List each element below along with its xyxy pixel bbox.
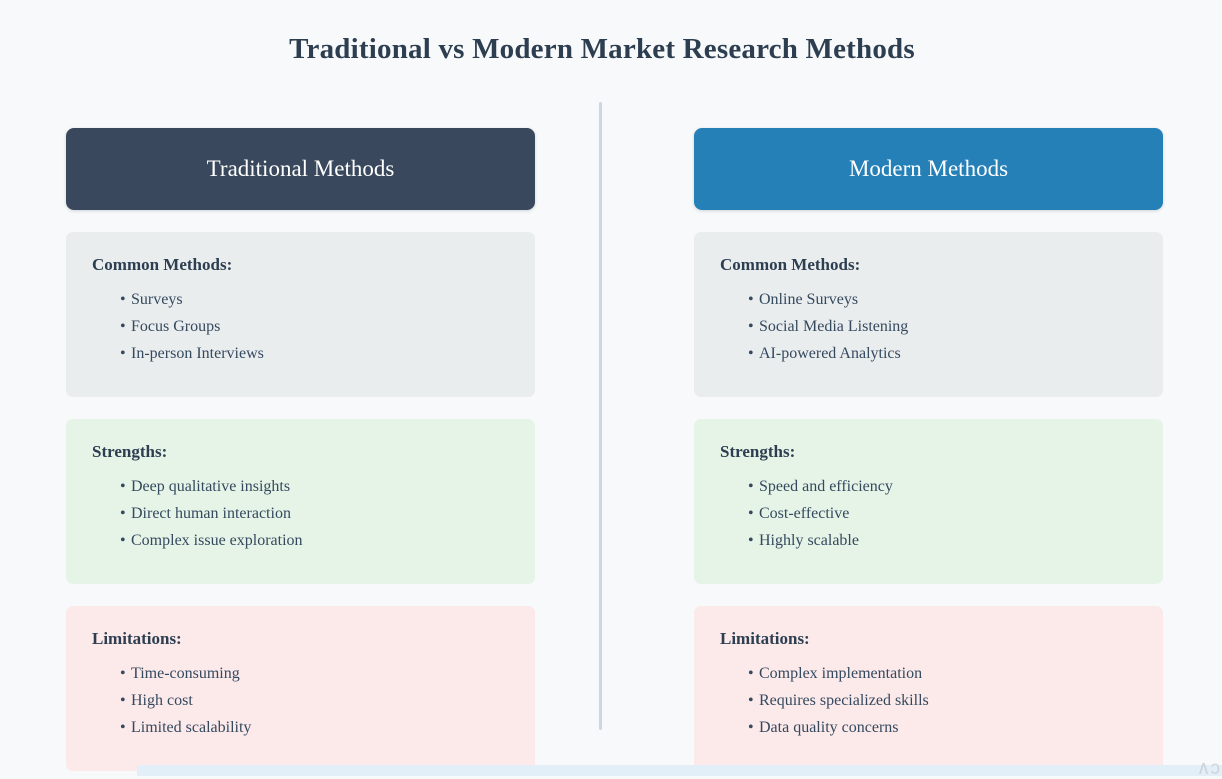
list-item: •Requires specialized skills bbox=[748, 687, 1163, 714]
corner-watermark: ∧ɔ bbox=[1197, 759, 1220, 778]
bullet-icon: • bbox=[748, 313, 759, 340]
list-item-label: AI-powered Analytics bbox=[759, 345, 901, 362]
bullet-icon: • bbox=[120, 473, 131, 500]
panel-heading: Limitations: bbox=[720, 628, 1163, 650]
panel-list: •Online Surveys •Social Media Listening … bbox=[694, 286, 1163, 367]
list-item-label: Limited scalability bbox=[131, 719, 251, 736]
list-item: •Limited scalability bbox=[120, 714, 535, 741]
list-item: •High cost bbox=[120, 687, 535, 714]
list-item-label: Data quality concerns bbox=[759, 719, 899, 736]
bullet-icon: • bbox=[748, 687, 759, 714]
bullet-icon: • bbox=[120, 286, 131, 313]
bullet-icon: • bbox=[748, 527, 759, 554]
panel-heading: Limitations: bbox=[92, 628, 535, 650]
list-item: •Surveys bbox=[120, 286, 535, 313]
list-item-label: High cost bbox=[131, 692, 193, 709]
comparison-columns: Traditional Methods Common Methods: •Sur… bbox=[0, 128, 1222, 771]
list-item-label: In-person Interviews bbox=[131, 345, 264, 362]
list-item-label: Highly scalable bbox=[759, 532, 859, 549]
panel-list: •Time-consuming •High cost •Limited scal… bbox=[66, 660, 535, 741]
bullet-icon: • bbox=[748, 473, 759, 500]
panel-heading: Strengths: bbox=[720, 441, 1163, 463]
page-title: Traditional vs Modern Market Research Me… bbox=[0, 33, 1204, 66]
panel-modern-limitations: Limitations: •Complex implementation •Re… bbox=[694, 606, 1163, 771]
list-item-label: Direct human interaction bbox=[131, 505, 291, 522]
panel-list: •Deep qualitative insights •Direct human… bbox=[66, 473, 535, 554]
list-item-label: Social Media Listening bbox=[759, 318, 908, 335]
bullet-icon: • bbox=[120, 340, 131, 367]
list-item: •Social Media Listening bbox=[748, 313, 1163, 340]
list-item: •Time-consuming bbox=[120, 660, 535, 687]
bullet-icon: • bbox=[748, 714, 759, 741]
column-modern: Modern Methods Common Methods: •Online S… bbox=[694, 128, 1163, 771]
list-item-label: Requires specialized skills bbox=[759, 692, 929, 709]
bullet-icon: • bbox=[748, 340, 759, 367]
panel-list: •Surveys •Focus Groups •In-person Interv… bbox=[66, 286, 535, 367]
list-item: •Data quality concerns bbox=[748, 714, 1163, 741]
bullet-icon: • bbox=[748, 500, 759, 527]
panel-traditional-common-methods: Common Methods: •Surveys •Focus Groups •… bbox=[66, 232, 535, 397]
list-item: •Focus Groups bbox=[120, 313, 535, 340]
list-item-label: Speed and efficiency bbox=[759, 478, 893, 495]
bullet-icon: • bbox=[120, 500, 131, 527]
list-item: •Cost-effective bbox=[748, 500, 1163, 527]
list-item: •Online Surveys bbox=[748, 286, 1163, 313]
list-item-label: Cost-effective bbox=[759, 505, 849, 522]
column-header-modern[interactable]: Modern Methods bbox=[694, 128, 1163, 210]
list-item: •In-person Interviews bbox=[120, 340, 535, 367]
bullet-icon: • bbox=[120, 714, 131, 741]
list-item-label: Online Surveys bbox=[759, 291, 858, 308]
bullet-icon: • bbox=[120, 527, 131, 554]
list-item-label: Complex implementation bbox=[759, 665, 922, 682]
list-item: •Complex implementation bbox=[748, 660, 1163, 687]
slide-canvas: Traditional vs Modern Market Research Me… bbox=[0, 0, 1222, 776]
bullet-icon: • bbox=[120, 313, 131, 340]
column-traditional: Traditional Methods Common Methods: •Sur… bbox=[66, 128, 535, 771]
panel-modern-common-methods: Common Methods: •Online Surveys •Social … bbox=[694, 232, 1163, 397]
list-item: •Deep qualitative insights bbox=[120, 473, 535, 500]
list-item: •Highly scalable bbox=[748, 527, 1163, 554]
panel-list: •Speed and efficiency •Cost-effective •H… bbox=[694, 473, 1163, 554]
list-item-label: Complex issue exploration bbox=[131, 532, 303, 549]
panel-list: •Complex implementation •Requires specia… bbox=[694, 660, 1163, 741]
bullet-icon: • bbox=[120, 660, 131, 687]
list-item: •Direct human interaction bbox=[120, 500, 535, 527]
bullet-icon: • bbox=[748, 660, 759, 687]
bottom-strip bbox=[137, 765, 1222, 776]
panel-heading: Common Methods: bbox=[720, 254, 1163, 276]
bullet-icon: • bbox=[120, 687, 131, 714]
column-header-traditional[interactable]: Traditional Methods bbox=[66, 128, 535, 210]
list-item: •Speed and efficiency bbox=[748, 473, 1163, 500]
list-item-label: Surveys bbox=[131, 291, 183, 308]
list-item: •AI-powered Analytics bbox=[748, 340, 1163, 367]
list-item-label: Deep qualitative insights bbox=[131, 478, 290, 495]
panel-traditional-strengths: Strengths: •Deep qualitative insights •D… bbox=[66, 419, 535, 584]
bullet-icon: • bbox=[748, 286, 759, 313]
list-item: •Complex issue exploration bbox=[120, 527, 535, 554]
panel-traditional-limitations: Limitations: •Time-consuming •High cost … bbox=[66, 606, 535, 771]
panel-modern-strengths: Strengths: •Speed and efficiency •Cost-e… bbox=[694, 419, 1163, 584]
list-item-label: Focus Groups bbox=[131, 318, 220, 335]
panel-heading: Common Methods: bbox=[92, 254, 535, 276]
panel-heading: Strengths: bbox=[92, 441, 535, 463]
list-item-label: Time-consuming bbox=[131, 665, 240, 682]
